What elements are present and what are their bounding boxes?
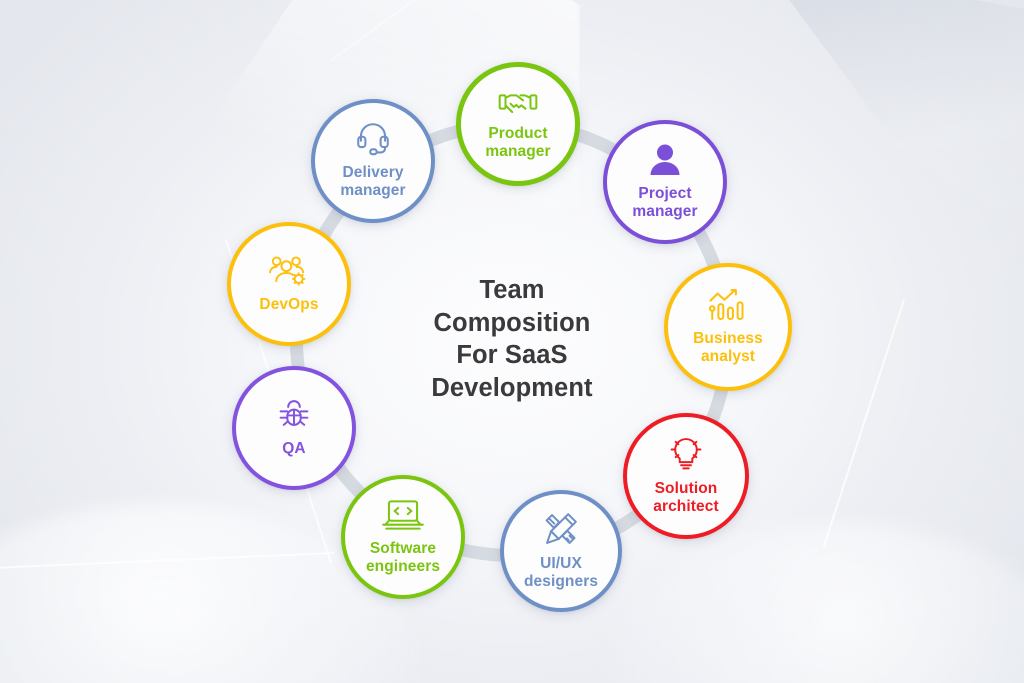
node-label-line: UI/UX [524, 555, 598, 573]
node-uiux-designers[interactable]: UI/UXdesigners [500, 490, 622, 612]
node-solution-architect[interactable]: Solutionarchitect [623, 413, 749, 539]
center-title-line-2: For SaaS [382, 339, 642, 372]
center-title-line-3: Development [382, 372, 642, 405]
node-project-manager[interactable]: Projectmanager [603, 120, 727, 244]
node-label-line: QA [282, 440, 305, 458]
node-devops[interactable]: DevOps [227, 222, 351, 346]
node-label-solution-architect: Solutionarchitect [653, 480, 719, 516]
node-label-software-engineers: Softwareengineers [366, 540, 440, 576]
node-label-product-manager: Productmanager [485, 125, 550, 161]
center-title: Team Composition For SaaS Development [382, 274, 642, 405]
center-title-line-1: Composition [382, 307, 642, 340]
lightbulb-icon [667, 436, 705, 477]
node-label-devops: DevOps [259, 296, 318, 314]
node-label-line: manager [340, 182, 405, 200]
node-delivery-manager[interactable]: Deliverymanager [311, 99, 435, 223]
node-label-business-analyst: Businessanalyst [693, 330, 763, 366]
background-blob-bottom-right [604, 523, 1024, 683]
node-label-line: manager [485, 143, 550, 161]
bar-chart-trend-icon [707, 288, 749, 327]
node-label-uiux-designers: UI/UXdesigners [524, 555, 598, 591]
center-title-line-0: Team [382, 274, 642, 307]
pencil-ruler-icon [542, 511, 580, 552]
node-label-qa: QA [282, 440, 305, 458]
node-label-line: Project [632, 185, 697, 203]
node-business-analyst[interactable]: Businessanalyst [664, 263, 792, 391]
background-line-a [0, 552, 335, 569]
node-label-line: architect [653, 498, 719, 516]
node-label-line: Solution [653, 480, 719, 498]
handshake-icon [498, 87, 538, 122]
users-gear-icon [267, 254, 311, 293]
node-label-project-manager: Projectmanager [632, 185, 697, 221]
node-label-line: manager [632, 203, 697, 221]
node-label-line: Software [366, 540, 440, 558]
laptop-code-icon [381, 498, 425, 537]
node-qa[interactable]: QA [232, 366, 356, 490]
node-software-engineers[interactable]: Softwareengineers [341, 475, 465, 599]
node-label-line: analyst [693, 348, 763, 366]
person-icon [647, 143, 683, 182]
node-label-line: Product [485, 125, 550, 143]
node-label-line: DevOps [259, 296, 318, 314]
headset-icon [354, 122, 392, 161]
node-label-line: designers [524, 573, 598, 591]
node-label-delivery-manager: Deliverymanager [340, 164, 405, 200]
bug-icon [277, 398, 311, 437]
background-line-c [823, 300, 905, 548]
node-label-line: Delivery [340, 164, 405, 182]
node-label-line: Business [693, 330, 763, 348]
node-product-manager[interactable]: Productmanager [456, 62, 580, 186]
background-line-d [330, 0, 549, 61]
node-label-line: engineers [366, 558, 440, 576]
diagram-canvas: Team Composition For SaaS Development Pr… [0, 0, 1024, 683]
background-triangle-top-right [724, 0, 1024, 260]
